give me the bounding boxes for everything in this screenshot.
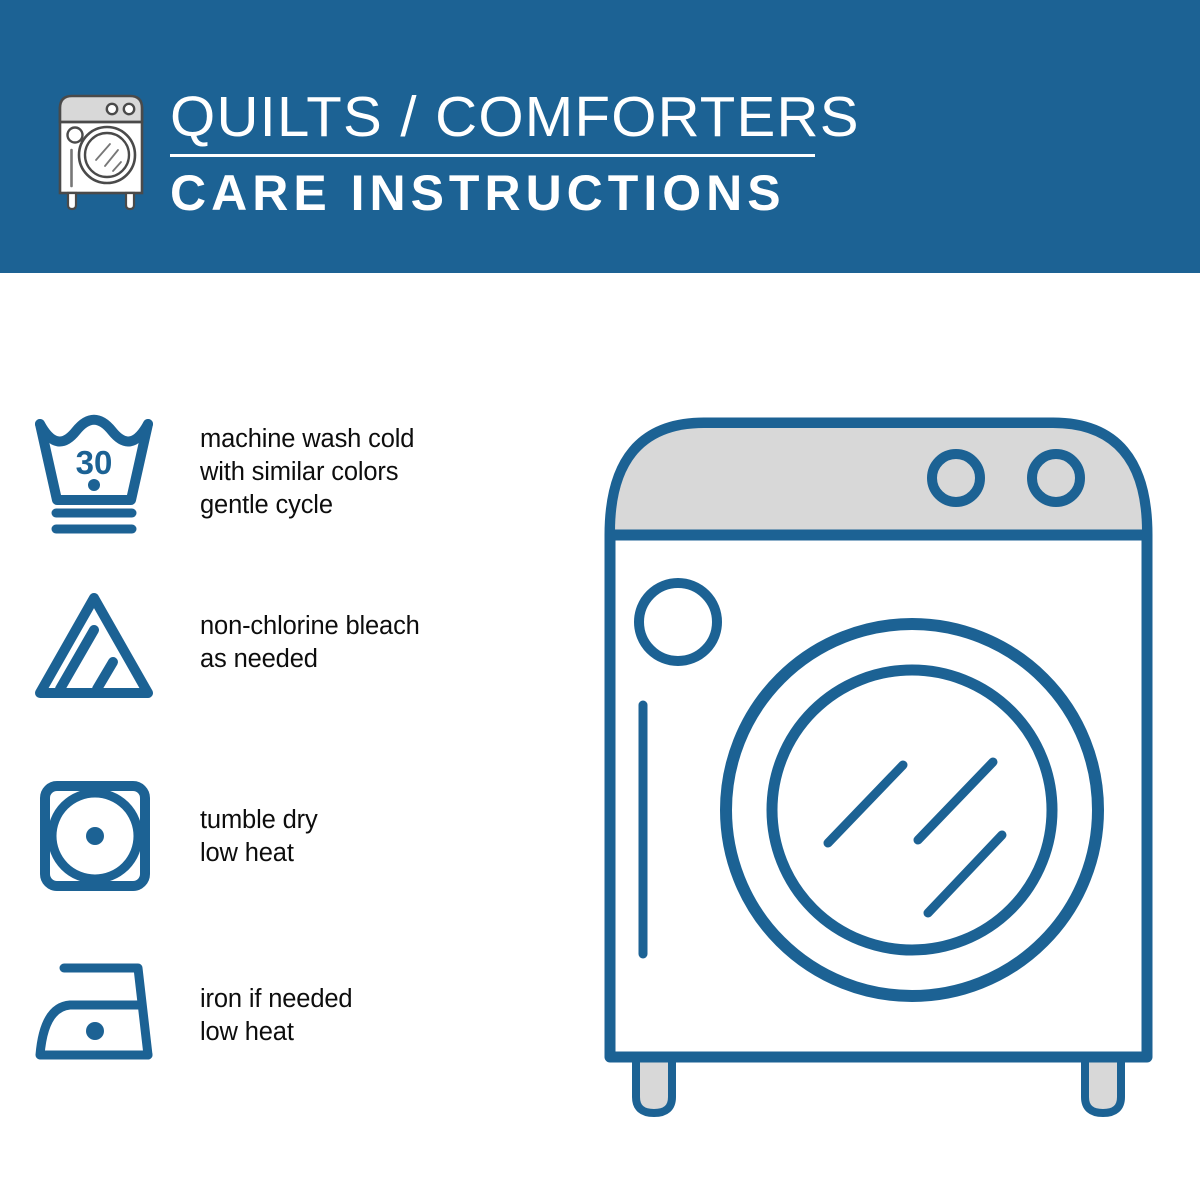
wash-dot-icon (88, 479, 100, 491)
header-title-block: QUILTS / COMFORTERS CARE INSTRUCTIONS (170, 86, 820, 221)
tumble-dry-icon (0, 778, 200, 893)
header-band: QUILTS / COMFORTERS CARE INSTRUCTIONS (0, 0, 1200, 273)
care-row-bleach: non-chlorine bleach as needed (0, 588, 520, 703)
machine-wash-tub-icon: 30 (0, 412, 200, 537)
washing-machine-icon (55, 78, 157, 213)
care-text-line: with similar colors (200, 456, 520, 489)
care-text-line: gentle cycle (200, 489, 520, 522)
page-title: QUILTS / COMFORTERS (170, 86, 833, 148)
iron-icon (0, 955, 200, 1065)
front-load-washing-machine-illustration (598, 405, 1168, 1120)
care-text-line: iron if needed (200, 983, 520, 1016)
tumble-dry-dot-icon (86, 827, 104, 845)
washer-knob (1032, 454, 1080, 502)
care-row-iron: iron if needed low heat (0, 955, 520, 1065)
iron-dot-icon (86, 1022, 104, 1040)
page-subtitle: CARE INSTRUCTIONS (170, 165, 820, 221)
care-text-line: non-chlorine bleach (200, 610, 520, 643)
wash-temperature-label: 30 (76, 444, 113, 481)
washer-knob (932, 454, 980, 502)
title-divider (170, 154, 815, 157)
care-row-tumble-dry: tumble dry low heat (0, 778, 520, 893)
care-text-line: machine wash cold (200, 423, 520, 456)
care-text-line: as needed (200, 643, 520, 676)
care-text-tumble-dry: tumble dry low heat (200, 778, 520, 870)
washer-drum-ring (772, 670, 1052, 950)
care-text-line: low heat (200, 1016, 520, 1049)
care-instructions-infographic: QUILTS / COMFORTERS CARE INSTRUCTIONS 30… (0, 0, 1200, 1200)
care-text-line: low heat (200, 837, 520, 870)
care-text-bleach: non-chlorine bleach as needed (200, 588, 520, 676)
care-text-iron: iron if needed low heat (200, 955, 520, 1049)
care-text-wash: machine wash cold with similar colors ge… (200, 412, 520, 522)
care-row-wash: 30 machine wash cold with similar colors… (0, 412, 520, 537)
care-text-line: tumble dry (200, 804, 520, 837)
washer-indicator-light (639, 583, 717, 661)
non-chlorine-bleach-triangle-icon (0, 588, 200, 703)
